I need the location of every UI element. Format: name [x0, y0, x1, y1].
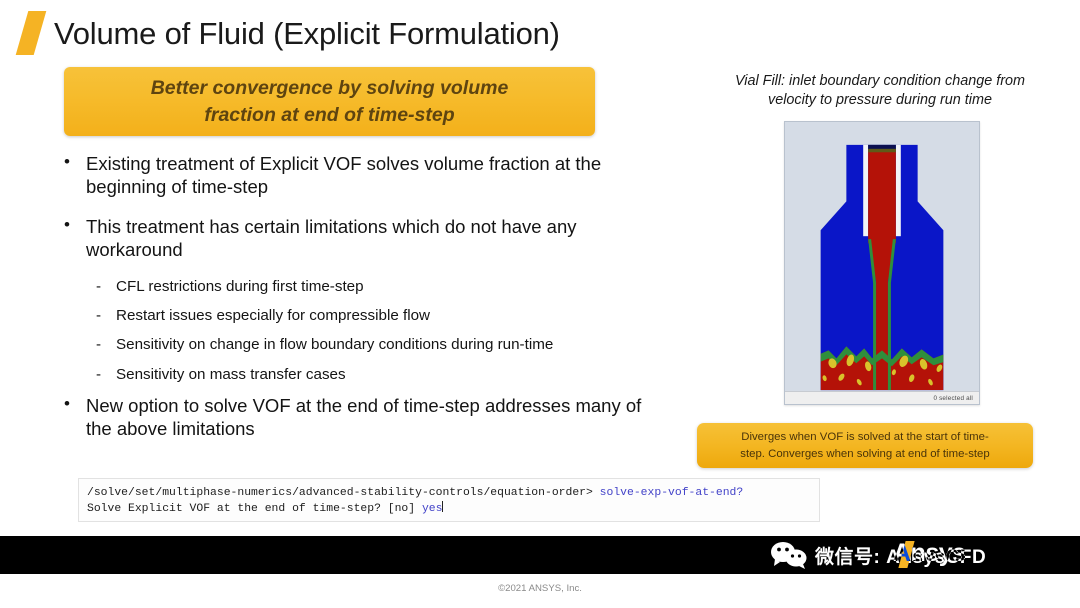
bullet-item-secondary: Sensitivity on mass transfer cases	[58, 365, 658, 384]
console-command: solve-exp-vof-at-end?	[600, 487, 744, 499]
panel-caption-line-2: velocity to pressure during run time	[694, 91, 1066, 110]
cfd-viewport[interactable]: 0 selected all	[784, 121, 980, 405]
highlight-line-1: Better convergence by solving volume	[151, 75, 509, 102]
wechat-label: 微信号: AnsysCFD	[815, 542, 986, 569]
note-line-1: Diverges when VOF is solved at the start…	[741, 429, 989, 446]
note-line-2: step. Converges when solving at end of t…	[740, 446, 989, 463]
highlight-callout-box: Better convergence by solving volume fra…	[64, 67, 595, 136]
title-accent-slash-icon	[16, 11, 47, 55]
bullet-item-primary: New option to solve VOF at the end of ti…	[58, 394, 658, 441]
bullet-item-primary: This treatment has certain limitations w…	[58, 215, 658, 262]
vof-contour-plot	[785, 122, 979, 404]
console-transcript[interactable]: /solve/set/multiphase-numerics/advanced-…	[78, 478, 820, 522]
bullet-item-secondary: Restart issues especially for compressib…	[58, 306, 658, 325]
bullet-item-secondary: Sensitivity on change in flow boundary c…	[58, 335, 658, 354]
bullet-list: Existing treatment of Explicit VOF solve…	[58, 152, 658, 456]
console-prompt-path: /solve/set/multiphase-numerics/advanced-…	[87, 487, 600, 499]
note-callout-box: Diverges when VOF is solved at the start…	[697, 423, 1033, 468]
slide-canvas: Volume of Fluid (Explicit Formulation) B…	[0, 0, 1080, 608]
viewport-status-bar: 0 selected all	[785, 391, 979, 404]
console-line-prompt: /solve/set/multiphase-numerics/advanced-…	[87, 485, 811, 501]
text-caret-icon	[442, 501, 443, 512]
viewport-status-text: 0 selected all	[933, 395, 973, 402]
copyright-text: ©2021 ANSYS, Inc.	[0, 583, 1080, 594]
wechat-icon	[770, 541, 808, 569]
slide-title-row: Volume of Fluid (Explicit Formulation)	[0, 6, 700, 60]
wechat-branding: 微信号: AnsysCFD	[770, 540, 986, 570]
panel-caption-line-1: Vial Fill: inlet boundary condition chan…	[694, 72, 1066, 91]
highlight-line-2: fraction at end of time-step	[204, 102, 454, 129]
console-answer: yes	[422, 503, 443, 515]
bullet-item-secondary: CFL restrictions during first time-step	[58, 277, 658, 296]
page-title: Volume of Fluid (Explicit Formulation)	[54, 18, 560, 49]
console-line-question: Solve Explicit VOF at the end of time-st…	[87, 501, 811, 517]
console-question: Solve Explicit VOF at the end of time-st…	[87, 503, 422, 515]
panel-caption: Vial Fill: inlet boundary condition chan…	[694, 72, 1066, 111]
bullet-item-primary: Existing treatment of Explicit VOF solve…	[58, 152, 658, 199]
